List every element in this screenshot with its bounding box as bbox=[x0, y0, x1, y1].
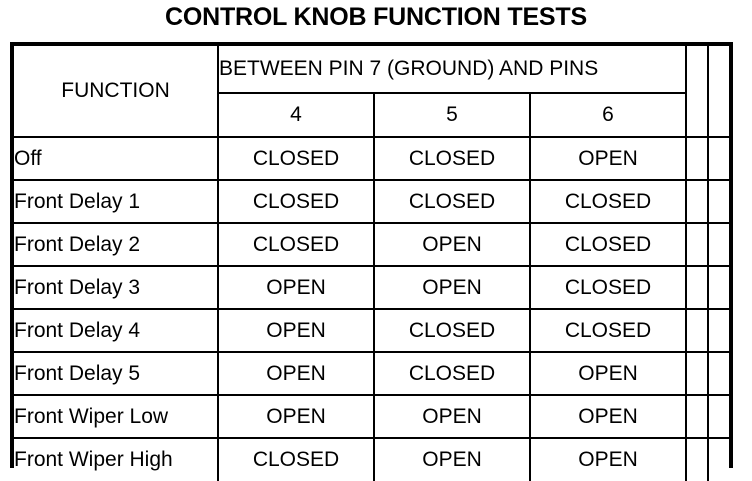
row-pin6-state: CLOSED bbox=[530, 266, 686, 309]
row-extra-2 bbox=[708, 137, 729, 180]
row-pin6-state: CLOSED bbox=[530, 309, 686, 352]
row-pin6-state: OPEN bbox=[530, 395, 686, 438]
row-pin5-state: OPEN bbox=[374, 438, 530, 481]
header-pin-5: 5 bbox=[374, 93, 530, 137]
row-pin5-state: CLOSED bbox=[374, 352, 530, 395]
row-extra-1 bbox=[686, 137, 708, 180]
row-function-name: Front Delay 1 bbox=[14, 180, 218, 223]
row-pin4-state: OPEN bbox=[218, 309, 374, 352]
function-test-table: FUNCTION BETWEEN PIN 7 (GROUND) AND PINS… bbox=[14, 46, 729, 481]
row-extra-1 bbox=[686, 352, 708, 395]
row-extra-2 bbox=[708, 309, 729, 352]
row-function-name: Front Delay 3 bbox=[14, 266, 218, 309]
row-extra-1 bbox=[686, 395, 708, 438]
row-function-name: Front Delay 2 bbox=[14, 223, 218, 266]
header-row-top: FUNCTION BETWEEN PIN 7 (GROUND) AND PINS bbox=[14, 46, 729, 93]
row-pin4-state: CLOSED bbox=[218, 137, 374, 180]
row-pin5-state: OPEN bbox=[374, 266, 530, 309]
row-pin5-state: OPEN bbox=[374, 223, 530, 266]
row-pin6-state: OPEN bbox=[530, 137, 686, 180]
table-row: Front Delay 5 OPEN CLOSED OPEN bbox=[14, 352, 729, 395]
row-extra-2 bbox=[708, 438, 729, 481]
table-row: Off CLOSED CLOSED OPEN bbox=[14, 137, 729, 180]
row-extra-2 bbox=[708, 266, 729, 309]
row-pin5-state: CLOSED bbox=[374, 137, 530, 180]
row-extra-2 bbox=[708, 180, 729, 223]
row-function-name: Front Wiper High bbox=[14, 438, 218, 481]
header-group-between-pins: BETWEEN PIN 7 (GROUND) AND PINS bbox=[218, 46, 686, 93]
row-pin5-state: CLOSED bbox=[374, 309, 530, 352]
row-extra-1 bbox=[686, 309, 708, 352]
header-function: FUNCTION bbox=[14, 46, 218, 137]
row-function-name: Off bbox=[14, 137, 218, 180]
row-pin4-state: OPEN bbox=[218, 352, 374, 395]
control-knob-function-table: FUNCTION BETWEEN PIN 7 (GROUND) AND PINS… bbox=[10, 42, 733, 468]
header-pin-6: 6 bbox=[530, 93, 686, 137]
table-row: Front Delay 4 OPEN CLOSED CLOSED bbox=[14, 309, 729, 352]
row-pin4-state: OPEN bbox=[218, 395, 374, 438]
table-row: Front Delay 3 OPEN OPEN CLOSED bbox=[14, 266, 729, 309]
row-extra-1 bbox=[686, 180, 708, 223]
row-pin6-state: CLOSED bbox=[530, 223, 686, 266]
header-pin-4: 4 bbox=[218, 93, 374, 137]
table-row: Front Wiper Low OPEN OPEN OPEN bbox=[14, 395, 729, 438]
table-row: Front Wiper High CLOSED OPEN OPEN bbox=[14, 438, 729, 481]
row-pin5-state: OPEN bbox=[374, 395, 530, 438]
row-extra-2 bbox=[708, 395, 729, 438]
page-title: CONTROL KNOB FUNCTION TESTS bbox=[0, 2, 752, 32]
header-extra-col-2 bbox=[708, 46, 729, 137]
row-pin6-state: OPEN bbox=[530, 438, 686, 481]
row-function-name: Front Wiper Low bbox=[14, 395, 218, 438]
row-pin4-state: CLOSED bbox=[218, 438, 374, 481]
row-extra-1 bbox=[686, 266, 708, 309]
row-extra-2 bbox=[708, 352, 729, 395]
row-pin4-state: OPEN bbox=[218, 266, 374, 309]
row-pin6-state: CLOSED bbox=[530, 180, 686, 223]
row-pin5-state: CLOSED bbox=[374, 180, 530, 223]
table-row: Front Delay 1 CLOSED CLOSED CLOSED bbox=[14, 180, 729, 223]
row-pin4-state: CLOSED bbox=[218, 223, 374, 266]
row-extra-1 bbox=[686, 438, 708, 481]
row-pin6-state: OPEN bbox=[530, 352, 686, 395]
header-extra-col-1 bbox=[686, 46, 708, 137]
row-pin4-state: CLOSED bbox=[218, 180, 374, 223]
row-function-name: Front Delay 5 bbox=[14, 352, 218, 395]
row-extra-2 bbox=[708, 223, 729, 266]
row-extra-1 bbox=[686, 223, 708, 266]
row-function-name: Front Delay 4 bbox=[14, 309, 218, 352]
table-row: Front Delay 2 CLOSED OPEN CLOSED bbox=[14, 223, 729, 266]
